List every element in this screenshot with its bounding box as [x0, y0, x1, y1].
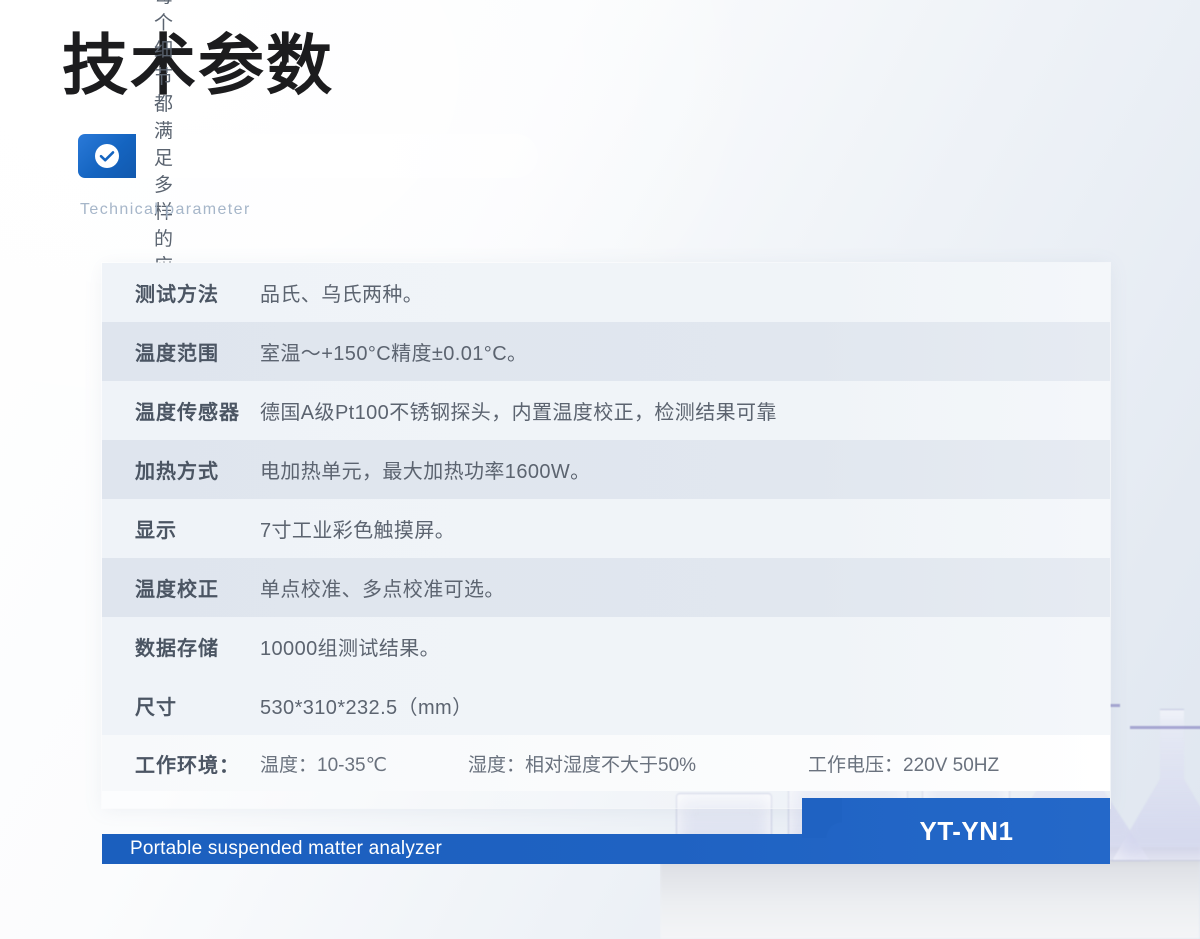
spec-key: 温度范围	[102, 337, 260, 366]
spec-value: 电加热单元，最大加热功率1600W。	[260, 455, 591, 484]
spec-value: 10000组测试结果。	[260, 632, 440, 661]
check-circle-icon	[78, 134, 136, 178]
page-title: 技术参数	[62, 26, 334, 104]
spec-value: 单点校准、多点校准可选。	[260, 573, 505, 602]
spec-key: 加热方式	[102, 455, 260, 484]
env-temperature: 温度：10-35℃	[260, 750, 468, 777]
spec-key: 温度校正	[102, 573, 260, 602]
table-row: 显示 7寸工业彩色触摸屏。	[102, 499, 1110, 558]
spec-key: 测试方法	[102, 278, 260, 307]
spec-key: 工作环境：	[102, 749, 260, 778]
spec-value: 室温～+150°C精度±0.01°C。	[260, 337, 527, 366]
spec-key: 数据存储	[102, 632, 260, 661]
spec-value: 7寸工业彩色触摸屏。	[260, 514, 455, 543]
table-row: 温度范围 室温～+150°C精度±0.01°C。	[102, 322, 1110, 381]
spec-value: 品氏、乌氏两种。	[260, 278, 423, 307]
spec-value: 530*310*232.5（mm）	[260, 691, 472, 720]
table-row: 加热方式 电加热单元，最大加热功率1600W。	[102, 440, 1110, 499]
product-footer-bar: Portable suspended matter analyzer YT-YN…	[102, 798, 1110, 864]
subtitle-text: 让每个细节都满足多样的应用需求	[154, 134, 174, 178]
spec-value: 德国A级Pt100不锈钢探头，内置温度校正，检测结果可靠	[260, 396, 777, 425]
spec-key: 温度传感器	[102, 396, 260, 425]
env-voltage: 工作电压：220V 50HZ	[808, 750, 999, 777]
product-name: Portable suspended matter analyzer	[130, 834, 442, 864]
table-row: 数据存储 10000组测试结果。	[102, 617, 1110, 676]
table-row-environment: 工作环境： 温度：10-35℃ 湿度：相对湿度不大于50% 工作电压：220V …	[102, 735, 1110, 791]
table-row: 尺寸 530*310*232.5（mm）	[102, 676, 1110, 735]
env-humidity: 湿度：相对湿度不大于50%	[468, 750, 808, 777]
liquid-level-line	[1130, 726, 1200, 729]
subtitle-pill	[78, 134, 538, 178]
spec-table: 测试方法 品氏、乌氏两种。 温度范围 室温～+150°C精度±0.01°C。 温…	[102, 263, 1110, 808]
spec-key: 尺寸	[102, 691, 260, 720]
table-row: 温度校正 单点校准、多点校准可选。	[102, 558, 1110, 617]
spec-key: 显示	[102, 514, 260, 543]
table-row: 温度传感器 德国A级Pt100不锈钢探头，内置温度校正，检测结果可靠	[102, 381, 1110, 440]
product-model: YT-YN1	[823, 798, 1110, 864]
flask-small-icon	[1112, 711, 1200, 861]
english-subtitle: Technical parameter	[80, 201, 251, 219]
table-row: 测试方法 品氏、乌氏两种。	[102, 263, 1110, 322]
